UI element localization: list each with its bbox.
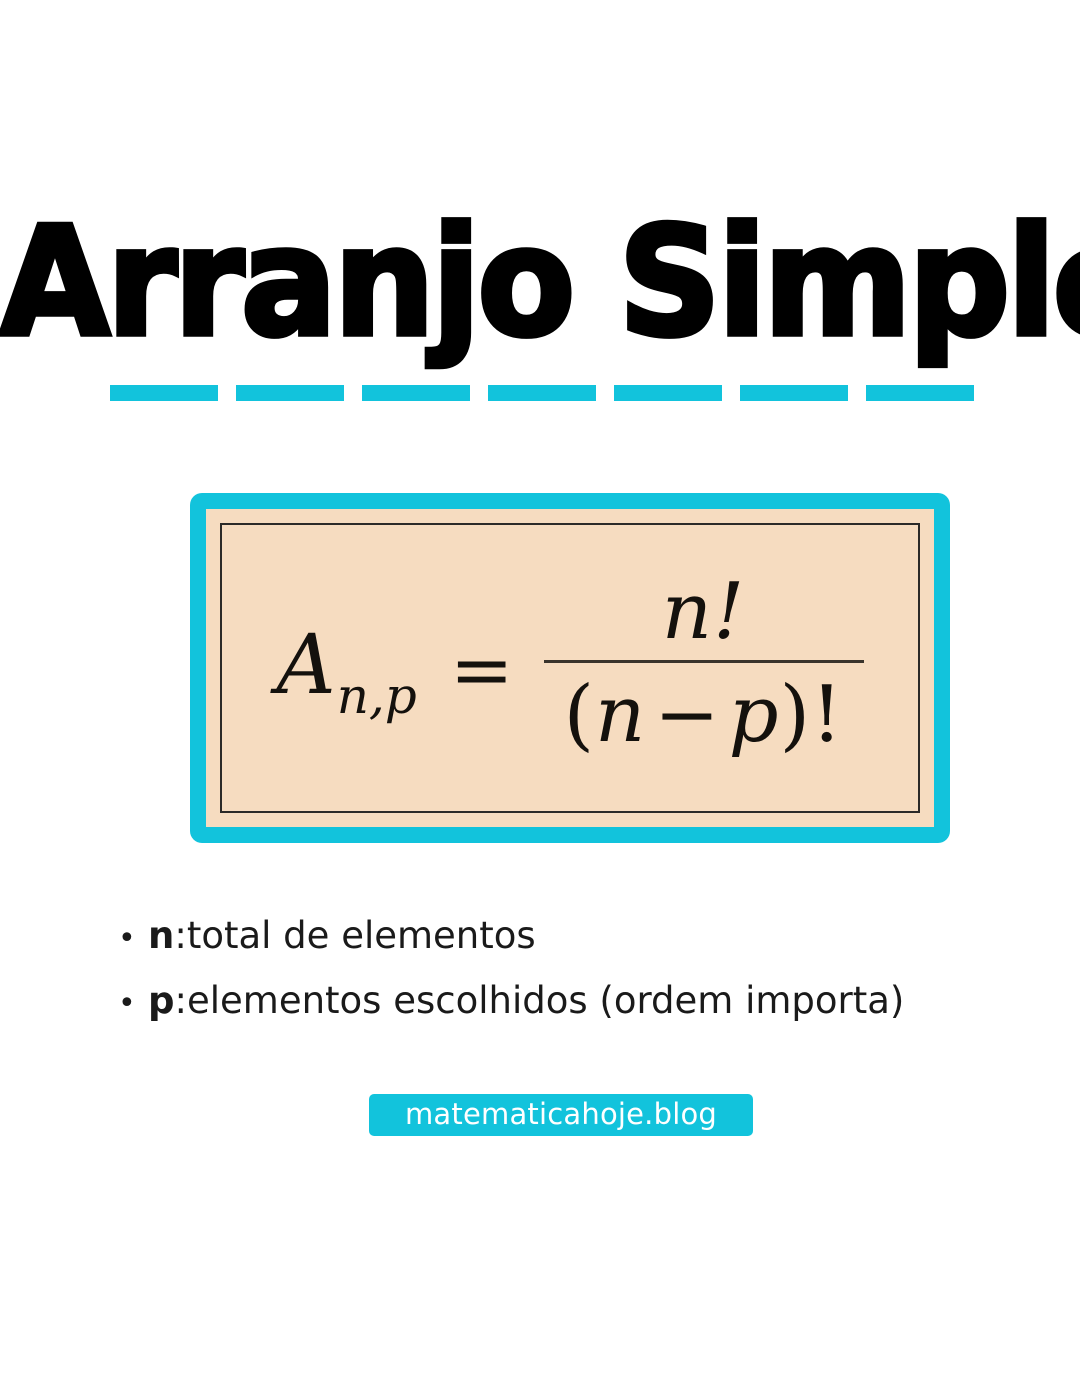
formula-numerator: n! [648, 572, 760, 660]
formula-denominator-p: p [729, 670, 780, 760]
formula-symbol-A: A [276, 625, 335, 707]
formula-factorial-sign: ! [811, 670, 843, 760]
site-badge[interactable]: matematicahoje.blog [369, 1094, 753, 1136]
list-item: • p: elementos escolhidos (ordem importa… [118, 970, 1048, 1035]
site-badge-label: matematicahoje.blog [405, 1100, 717, 1129]
title-block: Arranjo Simples [0, 208, 1080, 350]
divider-dash [740, 385, 848, 401]
divider-dash [236, 385, 344, 401]
legend-separator: : [175, 970, 187, 1032]
divider-dash [362, 385, 470, 401]
formula-denominator-n: n [595, 670, 646, 760]
legend-description-p: elementos escolhidos (ordem importa) [187, 970, 904, 1032]
formula-box-inner: An,p = n! (n−p)! [206, 509, 934, 827]
legend-description-n: total de elementos [187, 905, 536, 967]
dashed-divider [110, 385, 974, 401]
formula-denominator: (n−p)! [554, 663, 854, 761]
arrangement-formula: An,p = n! (n−p)! [276, 572, 863, 761]
formula-inner-border: An,p = n! (n−p)! [220, 523, 920, 813]
poster-canvas: Arranjo Simples An,p = n! (n− [0, 0, 1080, 1396]
divider-dash [110, 385, 218, 401]
legend-separator: : [174, 905, 186, 967]
divider-dash [614, 385, 722, 401]
page-title: Arranjo Simples [0, 208, 1080, 359]
formula-equals-sign: = [450, 632, 514, 708]
formula-open-paren: ( [564, 670, 595, 760]
divider-dash [866, 385, 974, 401]
formula-fraction: n! (n−p)! [544, 572, 864, 761]
bullet-icon: • [118, 908, 148, 970]
formula-minus-sign: − [654, 670, 720, 760]
formula-close-paren: ) [780, 670, 811, 760]
formula-left-hand-side: An,p [276, 625, 415, 707]
variable-legend-list: • n: total de elementos • p: elementos e… [118, 905, 1048, 1035]
divider-dash [488, 385, 596, 401]
legend-variable-n: n [148, 905, 174, 967]
bullet-icon: • [118, 973, 148, 1035]
list-item: • n: total de elementos [118, 905, 1048, 970]
formula-box: An,p = n! (n−p)! [190, 493, 950, 843]
legend-variable-p: p [148, 970, 175, 1032]
formula-subscript-np: n,p [337, 671, 417, 721]
